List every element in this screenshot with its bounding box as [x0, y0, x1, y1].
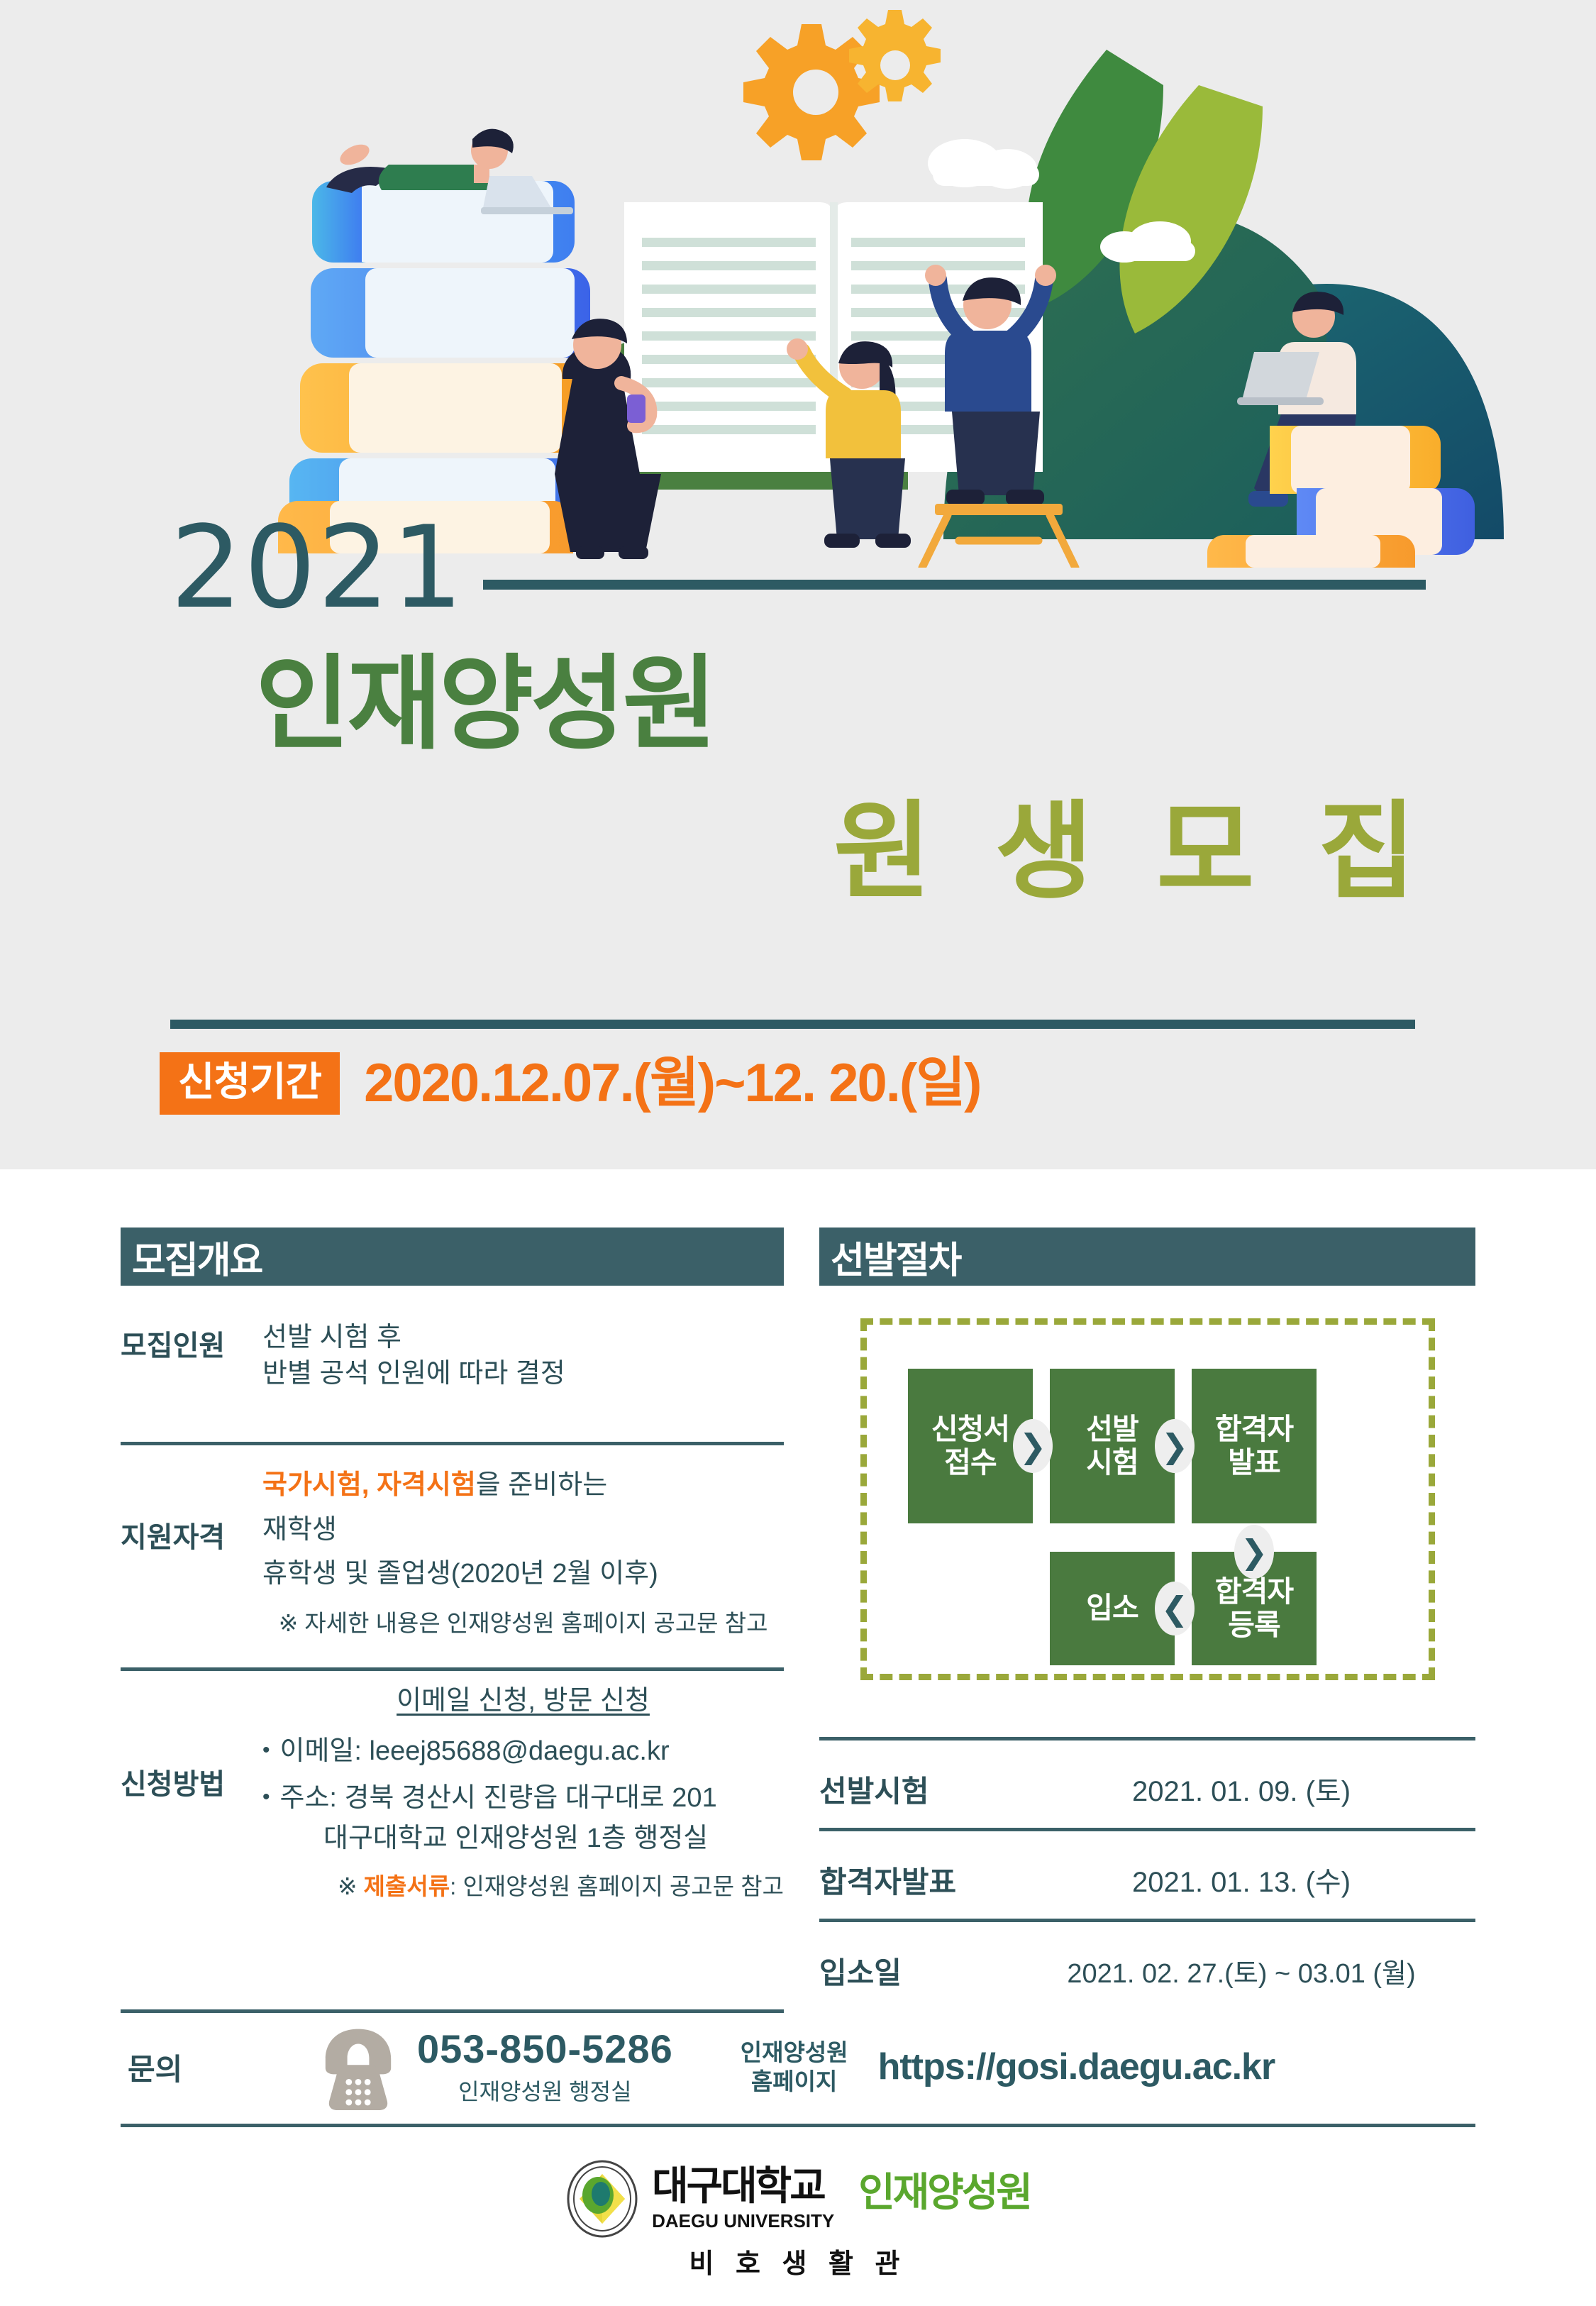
year-text: 2021 [170, 511, 465, 624]
row-value-how-to-apply: 이메일 신청, 방문 신청 • 이메일: leeej85688@daegu.ac… [262, 1683, 784, 1903]
year-row: 2021 [170, 514, 1426, 621]
contact-homepage-label: 인재양성원 홈페이지 [741, 2038, 848, 2097]
contact-phone-block: 053-850-5286 인재양성원 행정실 [417, 2027, 673, 2107]
recruit-count-line1: 선발 시험 후 [262, 1320, 784, 1356]
row-how-to-apply: 신청방법 이메일 신청, 방문 신청 • 이메일: leeej85688@dae… [121, 1683, 784, 1903]
apply-note-highlight: 제출서류 [364, 1873, 450, 1899]
chevron-down-icon: ❯ [1234, 1525, 1274, 1579]
hero-illustration [0, 0, 1596, 568]
application-period-row: 신청기간 2020.12.07.(월)~12. 20.(일) [160, 1052, 980, 1115]
year-divider [483, 580, 1426, 590]
homepage-label-line2: 홈페이지 [741, 2067, 848, 2096]
schedule-value-admission: 2021. 02. 27.(토) ~ 03.01 (월) [1007, 1951, 1475, 1990]
title-line2: 원 생 모 집 [833, 798, 1433, 905]
schedule-row-admission: 입소일 2021. 02. 27.(토) ~ 03.01 (월) [819, 1931, 1475, 2009]
eligibility-highlight-line: 국가시험, 자격시험을 준비하는 [262, 1467, 784, 1504]
flow-box-announcement: 합격자발표 [1192, 1369, 1317, 1523]
section-header-overview: 모집개요 [121, 1228, 784, 1286]
footer-university-name-ko: 대구대학교 [652, 2166, 824, 2206]
row-label-how-to-apply: 신청방법 [121, 1683, 262, 1802]
footer-dormitory-name: 비 호 생 활 관 [0, 2241, 1596, 2280]
row-label-eligibility: 지원자격 [121, 1467, 262, 1555]
bullet-icon: • [262, 1780, 270, 1816]
eligibility-highlight-tail: 을 준비하는 [476, 1470, 607, 1500]
selection-flow-diagram: 신청서접수 선발시험 합격자발표 입소 합격자등록 ❯ ❯ ❯ ❮ [860, 1318, 1435, 1680]
chevron-right-icon: ❯ [1155, 1419, 1195, 1473]
flow-label-announcement: 합격자발표 [1215, 1413, 1293, 1479]
recruit-count-line2: 반별 공석 인원에 따라 결정 [262, 1356, 784, 1392]
footer-institute-name: 인재양성원 [858, 2173, 1031, 2212]
contact-bar: 문의 053-850-5286 인재양성원 행정실 인재양성원 홈페이지 htt… [121, 2010, 1475, 2124]
application-period-badge: 신청기간 [160, 1052, 340, 1115]
apply-email: 이메일: leeej85688@daegu.ac.kr [280, 1733, 670, 1770]
divider-right-2 [819, 1828, 1475, 1831]
flow-label-admission: 입소 [1086, 1591, 1138, 1625]
contact-phone-office: 인재양성원 행정실 [417, 2074, 673, 2107]
apply-address: 주소: 경북 경산시 진량읍 대구대로 201 [280, 1780, 717, 1816]
schedule-value-announcement: 2021. 01. 13. (수) [1007, 1859, 1475, 1900]
section-header-procedure: 선발절차 [819, 1228, 1475, 1286]
eligibility-note: ※ 자세한 내용은 인재양성원 홈페이지 공고문 참고 [262, 1608, 784, 1640]
flow-label-registration: 합격자등록 [1215, 1575, 1293, 1642]
chevron-right-icon: ❯ [1013, 1419, 1053, 1473]
hero-section: 2021 인재양성원 원 생 모 집 신청기간 2020.12.07.(월)~1… [0, 0, 1596, 1169]
row-value-eligibility: 국가시험, 자격시험을 준비하는 재학생 휴학생 및 졸업생(2020년 2월 … [262, 1467, 784, 1639]
footer-university-name-en: DAEGU UNIVERSITY [652, 2210, 834, 2232]
daegu-university-emblem [565, 2160, 639, 2238]
row-recruit-count: 모집인원 선발 시험 후 반별 공석 인원에 따라 결정 [121, 1320, 784, 1393]
contact-phone-number[interactable]: 053-850-5286 [417, 2027, 673, 2071]
flow-label-application: 신청서접수 [931, 1413, 1009, 1479]
chevron-left-icon: ❮ [1155, 1582, 1195, 1635]
apply-note-prefix: ※ [338, 1873, 364, 1899]
eligibility-line2: 휴학생 및 졸업생(2020년 2월 이후) [262, 1556, 784, 1592]
flow-label-exam: 선발시험 [1086, 1413, 1138, 1479]
contact-homepage-url[interactable]: https://gosi.daegu.ac.kr [878, 2046, 1275, 2088]
schedule-label-exam: 선발시험 [819, 1767, 1007, 1811]
bullet-icon: • [262, 1733, 270, 1770]
eligibility-highlight: 국가시험, 자격시험 [262, 1470, 476, 1500]
title-line1: 인재양성원 [255, 653, 714, 756]
telephone-icon [319, 2024, 397, 2110]
schedule-row-announcement: 합격자발표 2021. 01. 13. (수) [819, 1841, 1475, 1919]
footer: 대구대학교 DAEGU UNIVERSITY 인재양성원 비 호 생 활 관 [0, 2161, 1596, 2288]
row-label-recruit-count: 모집인원 [121, 1320, 262, 1364]
divider-left-1 [121, 1442, 784, 1445]
schedule-value-exam: 2021. 01. 09. (토) [1007, 1768, 1475, 1809]
divider-left-2 [121, 1667, 784, 1671]
apply-note: ※ 제출서류: 인재양성원 홈페이지 공고문 참고 [262, 1871, 784, 1903]
contact-label: 문의 [128, 2046, 277, 2089]
application-period-dates: 2020.12.07.(월)~12. 20.(일) [364, 1057, 980, 1110]
eligibility-line1: 재학생 [262, 1512, 784, 1548]
hero-bottom-divider [170, 1020, 1415, 1029]
row-eligibility: 지원자격 국가시험, 자격시험을 준비하는 재학생 휴학생 및 졸업생(2020… [121, 1467, 784, 1639]
homepage-label-line1: 인재양성원 [741, 2038, 848, 2067]
divider-right-3 [819, 1919, 1475, 1922]
row-value-recruit-count: 선발 시험 후 반별 공석 인원에 따라 결정 [262, 1320, 784, 1393]
schedule-row-exam: 선발시험 2021. 01. 09. (토) [819, 1750, 1475, 1828]
schedule-label-admission: 입소일 [819, 1949, 1007, 1992]
apply-subhead: 이메일 신청, 방문 신청 [262, 1683, 784, 1719]
schedule-label-announcement: 합격자발표 [819, 1858, 1007, 1902]
apply-note-tail: : 인재양성원 홈페이지 공고문 참고 [450, 1873, 784, 1899]
divider-right-1 [819, 1737, 1475, 1740]
divider-contact-bottom [121, 2124, 1475, 2127]
apply-address-cont: 대구대학교 인재양성원 1층 행정실 [262, 1821, 784, 1857]
